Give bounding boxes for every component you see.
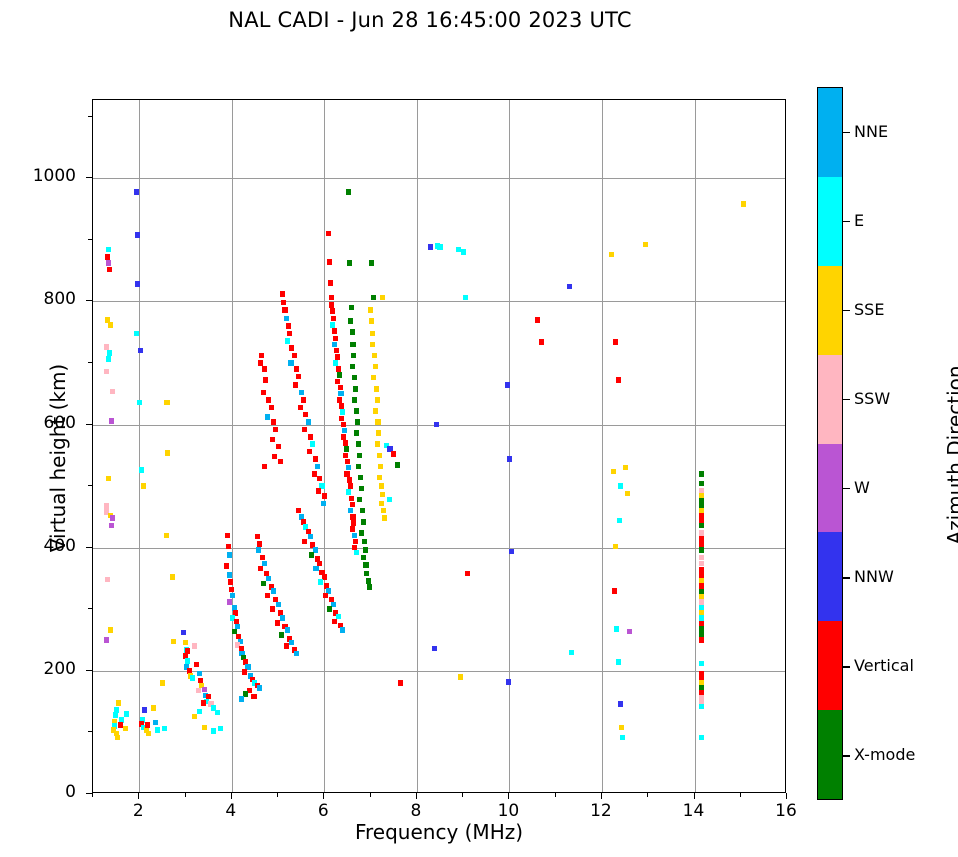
echo-mark <box>309 552 314 558</box>
echo-mark <box>627 629 632 635</box>
echo-mark <box>301 397 306 403</box>
y-axis-tick <box>86 300 92 301</box>
echo-mark <box>699 704 704 710</box>
echo-mark <box>334 348 339 354</box>
echo-mark <box>224 563 229 569</box>
echo-mark <box>110 389 115 395</box>
echo-mark <box>332 342 337 348</box>
y-axis-tick-label: 1000 <box>6 166 76 186</box>
echo-mark <box>352 375 357 381</box>
echo-mark <box>339 403 344 409</box>
echo-mark <box>374 386 379 392</box>
echo-mark <box>266 576 271 582</box>
x-axis-tick-label: 2 <box>108 801 168 821</box>
echo-mark <box>379 501 384 507</box>
echo-mark <box>339 416 344 422</box>
echo-mark <box>505 382 510 388</box>
echo-mark <box>288 360 293 366</box>
echo-mark <box>354 430 359 436</box>
x-axis-tick-label: 14 <box>664 801 724 821</box>
echo-mark <box>109 418 114 424</box>
echo-mark <box>280 291 285 297</box>
echo-mark <box>373 364 378 370</box>
echo-mark <box>395 462 400 468</box>
echo-mark <box>350 514 355 520</box>
echo-mark <box>363 562 368 568</box>
echo-mark <box>348 508 353 514</box>
echo-mark <box>609 252 614 258</box>
echo-mark <box>202 725 207 731</box>
x-axis-label: Frequency (MHz) <box>92 820 786 844</box>
echo-mark <box>256 547 261 553</box>
colorbar-tick <box>843 221 850 222</box>
echo-mark <box>196 688 201 694</box>
echo-mark <box>262 464 267 470</box>
echo-mark <box>227 572 232 578</box>
colorbar-segment-e[interactable] <box>818 177 842 266</box>
echo-mark <box>348 318 353 324</box>
echo-mark <box>699 561 704 567</box>
echo-mark <box>183 640 188 646</box>
colorbar-label-nnw: NNW <box>854 567 894 586</box>
echo-mark <box>239 696 244 702</box>
echo-mark <box>357 453 362 459</box>
echo-mark <box>337 397 342 403</box>
x-axis-minor-tick <box>740 793 741 797</box>
echo-mark <box>296 374 301 380</box>
echo-mark <box>509 549 514 555</box>
x-axis-tick <box>508 793 509 799</box>
echo-mark <box>387 497 392 503</box>
echo-mark <box>303 412 308 418</box>
y-axis-tick-label: 0 <box>6 782 76 802</box>
x-axis-minor-tick <box>370 793 371 797</box>
echo-mark <box>335 379 340 385</box>
x-axis-tick-label: 12 <box>571 801 631 821</box>
colorbar-segment-nne[interactable] <box>818 88 842 177</box>
echo-mark <box>368 307 373 313</box>
echo-mark <box>567 284 572 290</box>
echo-mark <box>308 534 313 540</box>
echo-mark <box>313 566 318 572</box>
x-axis-tick-label: 10 <box>478 801 538 821</box>
echo-mark <box>356 441 361 447</box>
y-axis-tick-label: 800 <box>6 289 76 309</box>
echo-mark <box>699 735 704 741</box>
echo-mark <box>699 481 704 487</box>
echo-mark <box>434 422 439 428</box>
colorbar-label-e: E <box>854 211 864 230</box>
echo-mark <box>107 350 112 356</box>
echo-mark <box>106 260 111 266</box>
echo-mark <box>625 491 630 497</box>
gridline-vertical <box>602 100 603 792</box>
echo-mark <box>432 646 437 652</box>
echo-mark <box>155 727 160 733</box>
colorbar-segment-x-mode[interactable] <box>818 710 842 799</box>
echo-mark <box>197 671 202 677</box>
colorbar-label-vertical: Vertical <box>854 656 914 675</box>
echo-mark <box>350 526 355 532</box>
x-axis-tick-label: 8 <box>386 801 446 821</box>
colorbar[interactable] <box>817 87 843 800</box>
echo-mark <box>353 539 358 545</box>
echo-mark <box>321 501 326 507</box>
echo-mark <box>699 471 704 477</box>
echo-mark <box>354 408 359 414</box>
echo-mark <box>306 419 311 425</box>
echo-mark <box>340 627 345 633</box>
echo-mark <box>229 587 234 593</box>
echo-mark <box>350 329 355 335</box>
echo-mark <box>135 232 140 238</box>
echo-mark <box>289 345 294 351</box>
echo-mark <box>350 342 355 348</box>
echo-mark <box>333 336 338 342</box>
echo-mark <box>258 360 263 366</box>
y-axis-tick-label: 400 <box>6 536 76 556</box>
echo-mark <box>345 459 350 465</box>
x-axis-tick <box>323 793 324 799</box>
echo-mark <box>347 477 352 483</box>
colorbar-tick <box>843 666 850 667</box>
gridline-horizontal <box>93 301 785 302</box>
echo-mark <box>275 620 280 626</box>
echo-mark <box>376 430 381 436</box>
echo-mark <box>104 369 109 375</box>
colorbar-tick <box>843 488 850 489</box>
echo-mark <box>271 419 276 425</box>
echo-mark <box>134 189 139 195</box>
colorbar-segment-nnw[interactable] <box>818 532 842 621</box>
y-axis-tick <box>86 793 92 794</box>
echo-mark <box>428 244 433 250</box>
echo-mark <box>185 658 190 664</box>
echo-mark <box>612 588 617 594</box>
echo-mark <box>108 627 113 633</box>
echo-mark <box>352 533 357 539</box>
echo-mark <box>317 476 322 482</box>
y-axis-minor-tick <box>88 608 92 609</box>
echo-mark <box>380 295 385 301</box>
y-axis-minor-tick <box>88 116 92 117</box>
x-axis-tick <box>138 793 139 799</box>
echo-mark <box>106 476 111 482</box>
echo-mark <box>358 475 363 481</box>
x-axis-tick-label: 16 <box>756 801 816 821</box>
y-axis-tick <box>86 547 92 548</box>
echo-mark <box>377 475 382 481</box>
echo-mark <box>302 427 307 433</box>
echo-mark <box>135 281 140 287</box>
gridline-horizontal <box>93 178 785 179</box>
echo-mark <box>351 520 356 526</box>
echo-mark <box>273 427 278 433</box>
echo-mark <box>569 650 574 656</box>
echo-mark <box>619 725 624 731</box>
echo-mark <box>364 571 369 577</box>
echo-mark <box>370 331 375 337</box>
colorbar-label-w: W <box>854 478 870 497</box>
echo-mark <box>142 707 147 713</box>
echo-mark <box>350 502 355 508</box>
echo-mark <box>307 449 312 455</box>
echo-mark <box>171 639 176 645</box>
echo-mark <box>294 651 299 657</box>
echo-mark <box>618 701 623 707</box>
echo-mark <box>337 372 342 378</box>
x-axis-tick <box>694 793 695 799</box>
echo-mark <box>699 547 704 553</box>
colorbar-tick <box>843 577 850 578</box>
echo-mark <box>338 391 343 397</box>
colorbar-label-nne: NNE <box>854 122 888 141</box>
echo-mark <box>260 555 265 561</box>
echo-mark <box>328 280 333 286</box>
echo-mark <box>215 710 220 716</box>
echo-mark <box>225 533 230 539</box>
x-axis-tick <box>416 793 417 799</box>
echo-mark <box>302 539 307 545</box>
echo-mark <box>285 338 290 344</box>
ionogram-figure: NAL CADI - Jun 28 16:45:00 2023 UTC Freq… <box>0 0 958 857</box>
echo-mark <box>293 382 298 388</box>
echo-mark <box>613 544 618 550</box>
echo-mark <box>104 637 109 643</box>
echo-mark <box>269 405 274 411</box>
echo-mark <box>201 700 206 706</box>
gridline-horizontal <box>93 425 785 426</box>
echo-mark <box>391 451 396 457</box>
echo-mark <box>346 189 351 195</box>
x-axis-minor-tick <box>277 793 278 797</box>
echo-mark <box>344 471 349 477</box>
echo-mark <box>371 375 376 381</box>
echo-mark <box>227 599 232 605</box>
echo-mark <box>699 637 704 643</box>
echo-mark <box>139 467 144 473</box>
x-axis-tick <box>786 793 787 799</box>
echo-mark <box>369 260 374 266</box>
echo-mark <box>359 530 364 536</box>
echo-mark <box>271 588 276 594</box>
echo-mark <box>281 300 286 306</box>
echo-mark <box>298 405 303 411</box>
echo-mark <box>361 555 366 561</box>
colorbar-label-x-mode: X-mode <box>854 745 915 764</box>
echo-mark <box>355 419 360 425</box>
y-axis-tick-label: 200 <box>6 659 76 679</box>
echo-mark <box>299 390 304 396</box>
echo-mark <box>110 515 115 521</box>
echo-mark <box>151 705 156 711</box>
echo-mark <box>366 578 371 584</box>
echo-mark <box>352 397 357 403</box>
colorbar-tick <box>843 399 850 400</box>
echo-mark <box>170 574 175 580</box>
echo-mark <box>278 459 283 465</box>
echo-mark <box>270 606 275 612</box>
y-axis-tick <box>86 424 92 425</box>
echo-mark <box>699 572 704 578</box>
echo-mark <box>378 464 383 470</box>
echo-mark <box>380 492 385 498</box>
echo-mark <box>323 593 328 599</box>
echo-mark <box>361 519 366 525</box>
gridline-vertical <box>509 100 510 792</box>
echo-mark <box>341 422 346 428</box>
echo-mark <box>105 577 110 583</box>
echo-mark <box>363 547 368 553</box>
echo-mark <box>326 231 331 237</box>
echo-mark <box>322 493 327 499</box>
echo-mark <box>192 714 197 720</box>
echo-mark <box>296 508 301 514</box>
echo-mark <box>458 674 463 680</box>
echo-mark <box>230 593 235 599</box>
echo-mark <box>141 483 146 489</box>
colorbar-segment-w[interactable] <box>818 444 842 533</box>
echo-mark <box>617 518 622 524</box>
echo-mark <box>261 581 266 587</box>
echo-mark <box>123 726 128 732</box>
plot-area <box>92 99 786 793</box>
echo-mark <box>327 606 332 612</box>
echo-mark <box>313 456 318 462</box>
echo-mark <box>335 354 340 360</box>
echo-mark <box>331 316 336 322</box>
echo-mark <box>333 360 338 366</box>
page-title: NAL CADI - Jun 28 16:45:00 2023 UTC <box>0 8 860 32</box>
echo-mark <box>377 453 382 459</box>
echo-mark <box>318 579 323 585</box>
echo-mark <box>160 680 165 686</box>
y-axis-label: Virtual height (km) <box>46 308 70 608</box>
y-axis-tick <box>86 177 92 178</box>
echo-mark <box>643 242 648 248</box>
y-axis-minor-tick <box>88 731 92 732</box>
echo-mark <box>370 342 375 348</box>
echo-mark <box>465 571 470 577</box>
echo-mark <box>272 454 277 460</box>
echo-mark <box>162 726 167 732</box>
echo-mark <box>134 331 139 337</box>
echo-mark <box>623 465 628 471</box>
echo-mark <box>382 515 387 521</box>
echo-mark <box>105 254 110 260</box>
echo-mark <box>251 694 256 700</box>
echo-mark <box>270 437 275 443</box>
echo-mark <box>342 428 347 434</box>
echo-mark <box>341 434 346 440</box>
echo-mark <box>263 377 268 383</box>
echo-mark <box>286 323 291 329</box>
x-axis-minor-tick <box>555 793 556 797</box>
echo-mark <box>285 627 290 633</box>
x-axis-tick <box>601 793 602 799</box>
echo-mark <box>262 366 267 372</box>
echo-mark <box>113 712 118 718</box>
gridline-vertical <box>417 100 418 792</box>
echo-mark <box>116 700 121 706</box>
echo-mark <box>265 414 270 420</box>
echo-mark <box>349 305 354 311</box>
echo-mark <box>138 348 143 354</box>
echo-mark <box>343 453 348 459</box>
echo-mark <box>211 728 216 734</box>
y-axis-minor-tick <box>88 239 92 240</box>
echo-mark <box>351 353 356 359</box>
x-axis-minor-tick <box>92 793 93 797</box>
x-axis-tick-label: 4 <box>201 801 261 821</box>
echo-mark <box>310 441 315 447</box>
echo-mark <box>699 523 704 529</box>
echo-mark <box>616 377 621 383</box>
colorbar-segment-sse[interactable] <box>818 266 842 355</box>
echo-mark <box>357 497 362 503</box>
echo-mark <box>259 353 264 359</box>
echo-mark <box>699 599 704 605</box>
echo-mark <box>350 364 355 370</box>
colorbar-label-ssw: SSW <box>854 389 890 408</box>
echo-mark <box>463 295 468 301</box>
colorbar-tick <box>843 310 850 311</box>
echo-mark <box>329 295 334 301</box>
echo-mark <box>741 201 746 207</box>
echo-mark <box>104 503 109 509</box>
echo-mark <box>181 630 186 636</box>
echo-mark <box>535 317 540 323</box>
echo-mark <box>461 249 466 255</box>
echo-mark <box>145 722 150 728</box>
colorbar-segment-ssw[interactable] <box>818 355 842 444</box>
echo-mark <box>373 408 378 414</box>
gridline-vertical <box>324 100 325 792</box>
echo-mark <box>613 339 618 345</box>
echo-mark <box>347 260 352 266</box>
echo-mark <box>371 295 376 301</box>
echo-mark <box>348 483 353 489</box>
echo-mark <box>369 318 374 324</box>
x-axis-tick <box>231 793 232 799</box>
echo-mark <box>276 602 281 608</box>
echo-mark <box>243 691 248 697</box>
echo-mark <box>284 643 289 649</box>
gridline-vertical <box>232 100 233 792</box>
echo-mark <box>699 626 704 632</box>
echo-mark <box>292 353 297 359</box>
echo-mark <box>507 456 512 462</box>
echo-mark <box>539 339 544 345</box>
x-axis-minor-tick <box>462 793 463 797</box>
echo-mark <box>266 397 271 403</box>
echo-mark <box>349 496 354 502</box>
echo-mark <box>340 409 345 415</box>
colorbar-segment-vertical[interactable] <box>818 621 842 710</box>
echo-mark <box>353 386 358 392</box>
echo-mark <box>192 643 197 649</box>
echo-mark <box>437 244 442 250</box>
echo-mark <box>228 579 233 585</box>
echo-mark <box>315 464 320 470</box>
echo-mark <box>227 552 232 558</box>
echo-mark <box>375 419 380 425</box>
echo-mark <box>124 711 129 717</box>
echo-mark <box>338 385 343 391</box>
echo-mark <box>104 344 109 350</box>
echo-mark <box>367 584 372 590</box>
echo-mark <box>343 440 348 446</box>
